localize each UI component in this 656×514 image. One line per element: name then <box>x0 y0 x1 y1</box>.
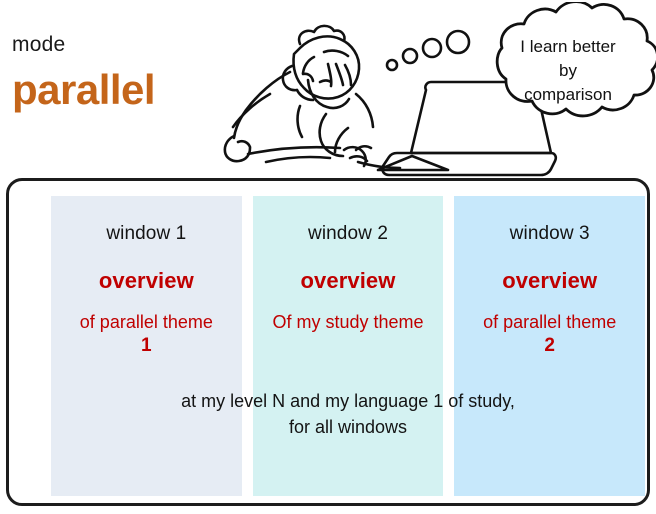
window-panel-2-subtitle-text: Of my study theme <box>272 312 423 332</box>
mode-value: parallel <box>12 68 155 112</box>
thought-line-2: by <box>559 61 577 80</box>
window-panel-1[interactable]: window 1 overview of parallel theme 1 <box>51 196 242 496</box>
person-studying-at-laptop-illustration: I learn better by comparison <box>208 2 656 178</box>
panels-row: window 1 overview of parallel theme 1 wi… <box>51 196 645 496</box>
windows-frame: window 1 overview of parallel theme 1 wi… <box>6 178 650 506</box>
window-panel-3-subtitle-text: of parallel theme <box>483 312 616 332</box>
thought-bubble: I learn better by comparison <box>497 2 656 116</box>
window-panel-3[interactable]: window 3 overview of parallel theme 2 <box>454 196 645 496</box>
window-panel-3-heading: overview <box>454 269 645 293</box>
window-panel-1-emphasis: 1 <box>55 334 238 358</box>
window-panel-3-subtitle: of parallel theme 2 <box>454 311 645 357</box>
mode-label: mode <box>12 34 65 55</box>
window-panel-1-heading: overview <box>51 269 242 293</box>
header-region: mode parallel <box>0 0 656 178</box>
window-panel-1-subtitle: of parallel theme 1 <box>51 311 242 357</box>
window-panel-2-title: window 2 <box>253 224 444 245</box>
thought-line-1: I learn better <box>520 37 616 56</box>
window-panel-1-subtitle-text: of parallel theme <box>80 312 213 332</box>
window-panel-1-title: window 1 <box>51 224 242 245</box>
window-panel-2-subtitle: Of my study theme <box>253 311 444 334</box>
window-panel-3-emphasis: 2 <box>458 334 641 358</box>
thought-line-3: comparison <box>524 85 612 104</box>
window-panel-2[interactable]: window 2 overview Of my study theme <box>253 196 444 496</box>
window-panel-3-title: window 3 <box>454 224 645 245</box>
window-panel-2-heading: overview <box>253 269 444 293</box>
